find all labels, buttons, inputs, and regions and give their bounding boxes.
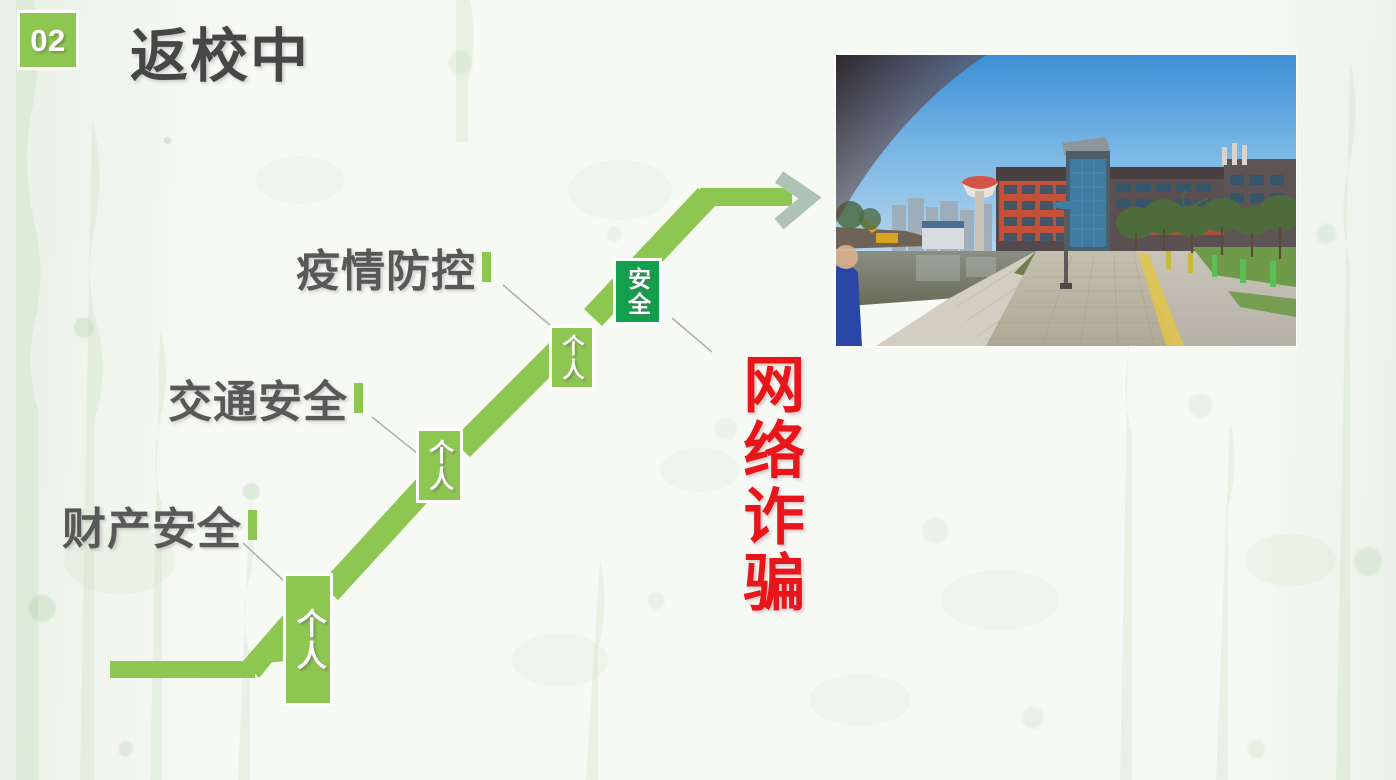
- step-block-3-label: 个人: [560, 334, 583, 382]
- step-block-1[interactable]: 个人: [283, 573, 333, 706]
- alert-callout: 网络诈骗: [733, 352, 801, 616]
- step-label-2[interactable]: 交通安全: [168, 381, 363, 425]
- slide-canvas: 02 返校中: [0, 0, 1396, 780]
- accent-bar-icon: [354, 383, 363, 413]
- campus-photo: [836, 55, 1296, 346]
- step-block-2[interactable]: 个人: [416, 428, 463, 503]
- step-label-3[interactable]: 疫情防控: [296, 250, 491, 294]
- step-label-1-text: 财产安全: [62, 508, 242, 552]
- accent-bar-icon: [482, 252, 491, 282]
- step-block-3[interactable]: 个人: [549, 325, 595, 390]
- step-label-2-text: 交通安全: [168, 381, 348, 425]
- accent-bar-icon: [248, 510, 257, 540]
- step-block-1-label: 个人: [292, 608, 324, 672]
- step-block-2-label: 个人: [426, 439, 452, 493]
- step-label-3-text: 疫情防控: [296, 250, 476, 294]
- summit-block[interactable]: 安全: [613, 258, 662, 325]
- summit-block-label: 安全: [625, 267, 649, 317]
- step-label-1[interactable]: 财产安全: [62, 508, 257, 552]
